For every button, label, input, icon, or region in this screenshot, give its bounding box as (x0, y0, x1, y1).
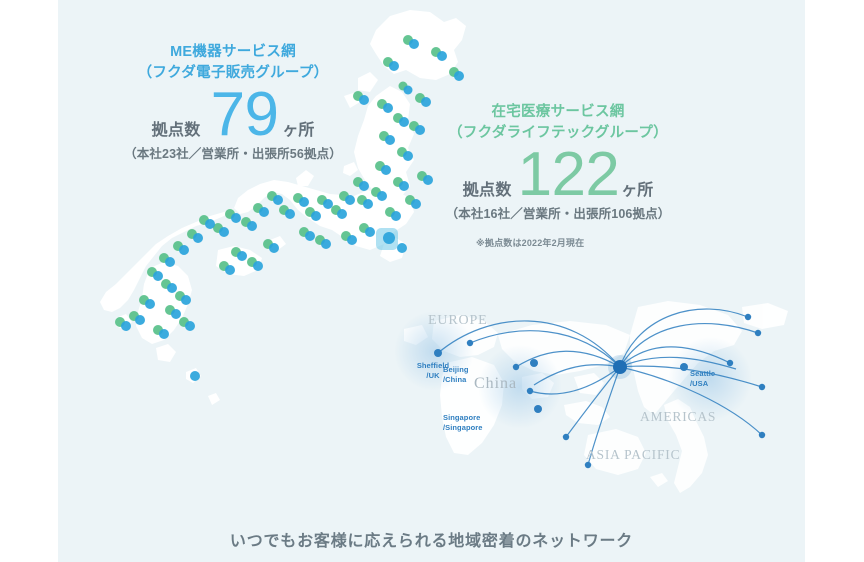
content-panel: ME機器サービス網 （フクダ電子販売グループ） 拠点数 79 ヶ所 （本社23社… (58, 0, 805, 562)
region-label-americas: AMERICAS (640, 409, 716, 425)
stat-breakdown-home-medical: （本社16社／営業所・出張所106拠点） (413, 203, 703, 222)
node-beijing (530, 359, 538, 367)
node-seattle (680, 363, 688, 371)
stat-title-line1: 在宅医療サービス網 (413, 102, 703, 123)
world-map: EUROPE China ASIA PACIFIC AMERICAS Sheff… (338, 295, 805, 500)
node-singapore (534, 405, 542, 413)
stat-block-home-medical: 在宅医療サービス網 （フクダライフテックグループ） 拠点数 122 ヶ所 （本社… (413, 102, 703, 222)
stat-unit: ヶ所 (282, 116, 314, 140)
stat-unit: ヶ所 (621, 176, 653, 200)
stat-breakdown-me-equipment: （本社23社／営業所・出張所56拠点） (98, 143, 368, 162)
city-name: Beijing (443, 365, 487, 375)
stat-block-me-equipment: ME機器サービス網 （フクダ電子販売グループ） 拠点数 79 ヶ所 （本社23社… (98, 42, 368, 162)
stat-title-home-medical: 在宅医療サービス網 （フクダライフテックグループ） (413, 102, 703, 144)
city-name: Singapore (443, 413, 499, 423)
city-label-seattle: Seattle /USA (690, 369, 736, 389)
footer-caption: いつでもお客様に応えられる地域密着のネットワーク (58, 527, 805, 551)
city-country: /USA (690, 379, 736, 389)
stat-value-row-home-medical: 拠点数 122 ヶ所 (413, 146, 703, 205)
infographic-root: ME機器サービス網 （フクダ電子販売グループ） 拠点数 79 ヶ所 （本社23社… (0, 0, 864, 562)
stat-value: 79 (211, 86, 279, 145)
as-of-note: ※拠点数は2022年2月現在 (476, 236, 584, 249)
city-label-singapore: Singapore /Singapore (443, 413, 499, 433)
city-country: /Singapore (443, 423, 499, 433)
region-label-asia-pacific: ASIA PACIFIC (586, 447, 680, 463)
stat-prefix-label: 拠点数 (463, 176, 512, 200)
city-name: Seattle (690, 369, 736, 379)
city-country: /China (443, 375, 487, 385)
stat-title-me-equipment: ME機器サービス網 （フクダ電子販売グループ） (98, 42, 368, 84)
world-map-svg (338, 295, 805, 500)
region-label-europe: EUROPE (428, 313, 488, 329)
stat-value-row-me-equipment: 拠点数 79 ヶ所 (98, 86, 368, 145)
stat-title-line1: ME機器サービス網 (98, 42, 368, 63)
node-sheffield (434, 349, 442, 357)
stat-prefix-label: 拠点数 (152, 116, 201, 140)
hub-japan (608, 355, 632, 379)
city-label-beijing: Beijing /China (443, 365, 487, 385)
stat-value: 122 (518, 146, 620, 205)
